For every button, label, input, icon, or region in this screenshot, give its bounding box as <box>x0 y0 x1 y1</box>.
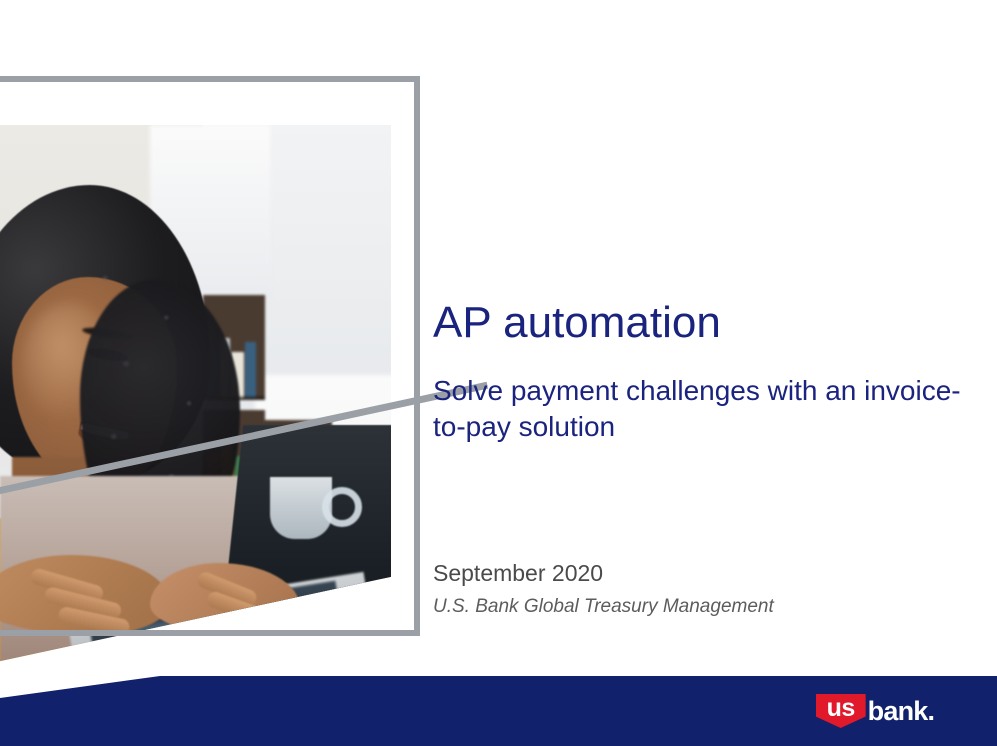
logo-bank-text: bank <box>868 697 928 725</box>
us-bank-shield-icon: us <box>816 694 866 728</box>
organization-name: U.S. Bank Global Treasury Management <box>433 596 973 619</box>
presentation-date: September 2020 <box>433 560 973 588</box>
us-bank-logo: us bank . <box>816 694 935 728</box>
title-block: AP automation Solve payment challenges w… <box>433 300 973 445</box>
logo-period: . <box>927 697 935 725</box>
hero-image-block <box>0 0 440 700</box>
logo-us-text: us <box>827 694 855 721</box>
footer-bar: us bank . <box>0 676 997 746</box>
page-subtitle: Solve payment challenges with an invoice… <box>433 373 963 446</box>
photo-frame-outline <box>0 76 420 636</box>
presentation-slide: AP automation Solve payment challenges w… <box>0 0 997 746</box>
meta-block: September 2020 U.S. Bank Global Treasury… <box>433 560 973 618</box>
page-title: AP automation <box>433 300 973 347</box>
